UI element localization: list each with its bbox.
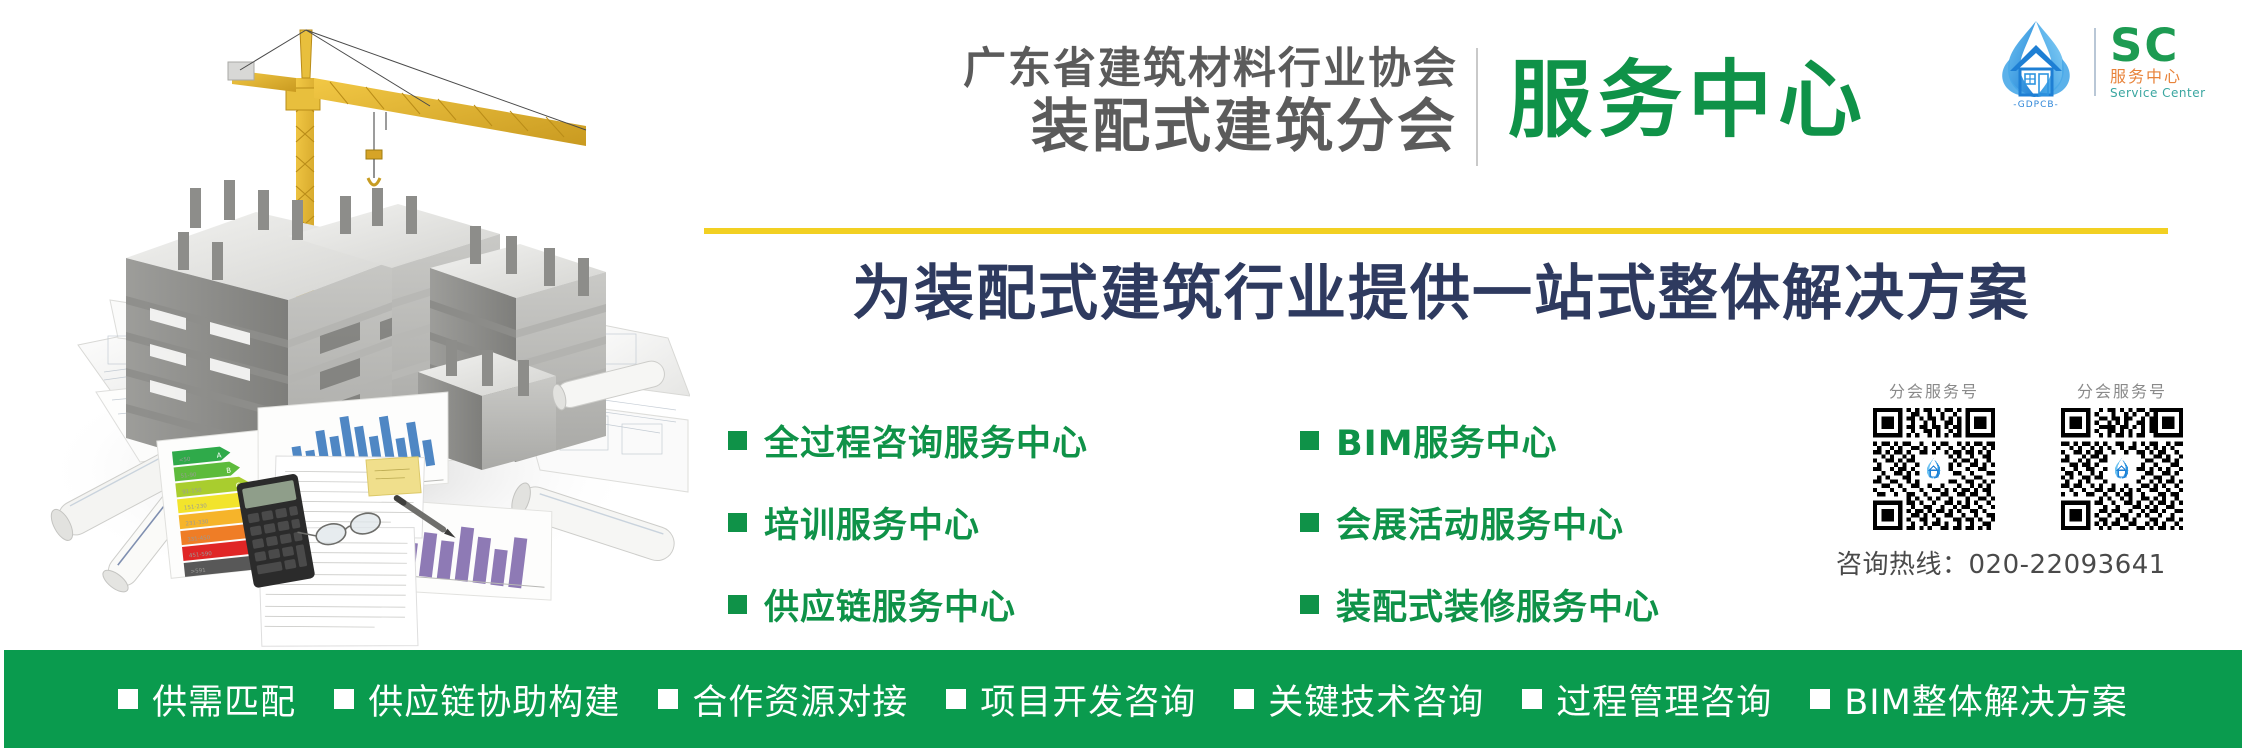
service-label: 培训服务中心 [764, 497, 980, 548]
hero-construction-image: ABC DEF GH <5051-9091-150 151-230231-330… [0, 0, 690, 648]
qr-code-icon[interactable] [2046, 408, 2198, 530]
qr-contact-block: 分会服务号 [1858, 378, 2238, 581]
service-label: 供应链服务中心 [764, 579, 1016, 630]
square-bullet-icon [658, 689, 678, 709]
logo-text-block: SC 服务中心 Service Center [2110, 25, 2206, 100]
association-title-block: 广东省建筑材料行业协会 装配式建筑分会 [838, 44, 1458, 158]
square-bullet-icon [334, 689, 354, 709]
qr-code-icon[interactable] [1858, 408, 2010, 530]
footer-item[interactable]: BIM整体解决方案 [1791, 674, 2147, 725]
footer-bar: 供需匹配 供应链协助构建 合作资源对接 项目开发咨询 关键技术咨询 过程管理咨询… [4, 650, 2242, 748]
footer-label: 项目开发咨询 [980, 674, 1196, 725]
gdpcb-house-flame-icon: -GDPCB- [1986, 15, 2086, 109]
yellow-divider-rule [704, 228, 2168, 234]
house-flame-glyph [1986, 15, 2086, 109]
banner-root: ABC DEF GH <5051-9091-150 151-230231-330… [0, 0, 2246, 752]
qr-cell[interactable]: 分会服务号 [2046, 378, 2198, 530]
page-tagline: 为装配式建筑行业提供一站式整体解决方案 [706, 255, 2176, 333]
square-bullet-icon [1810, 689, 1830, 709]
square-bullet-icon [728, 513, 747, 532]
service-list-right: BIM服务中心 会展活动服务中心 装配式装修服务中心 [1300, 408, 1660, 654]
qr-cell[interactable]: 分会服务号 [1858, 378, 2010, 530]
logo-divider [2094, 28, 2096, 96]
footer-label: 合作资源对接 [692, 674, 908, 725]
footer-item[interactable]: 供需匹配 [99, 674, 315, 725]
square-bullet-icon [728, 595, 747, 614]
square-bullet-icon [1300, 513, 1319, 532]
footer-item[interactable]: 关键技术咨询 [1215, 674, 1503, 725]
list-item[interactable]: 装配式装修服务中心 [1300, 572, 1660, 636]
service-center-heading: 服务中心 [1508, 50, 1868, 150]
construction-scene-illustration: ABC DEF GH <5051-9091-150 151-230231-330… [0, 0, 690, 648]
list-item[interactable]: BIM服务中心 [1300, 408, 1660, 472]
footer-item[interactable]: 供应链协助构建 [315, 674, 639, 725]
logo-sc-letters: SC [2110, 25, 2206, 67]
footer-label: 过程管理咨询 [1556, 674, 1772, 725]
service-label: 全过程咨询服务中心 [764, 415, 1088, 466]
service-label: 装配式装修服务中心 [1336, 579, 1660, 630]
qr-caption: 分会服务号 [2046, 378, 2198, 402]
footer-label: 供需匹配 [152, 674, 296, 725]
service-label: 会展活动服务中心 [1336, 497, 1624, 548]
logo-english-label: Service Center [2110, 86, 2206, 100]
square-bullet-icon [728, 431, 747, 450]
footer-item[interactable]: 项目开发咨询 [927, 674, 1215, 725]
service-label: BIM服务中心 [1336, 415, 1558, 466]
hotline-text: 咨询热线：020-22093641 [1836, 544, 2238, 581]
sticky-note [364, 453, 423, 500]
footer-label: 关键技术咨询 [1268, 674, 1484, 725]
footer-label: 供应链协助构建 [368, 674, 620, 725]
service-list-left: 全过程咨询服务中心 培训服务中心 供应链服务中心 [728, 408, 1088, 654]
footer-item[interactable]: 合作资源对接 [639, 674, 927, 725]
association-branch: 装配式建筑分会 [838, 94, 1458, 158]
brand-logo[interactable]: -GDPCB- SC 服务中心 Service Center [1986, 14, 2236, 110]
logo-chinese-label: 服务中心 [2110, 67, 2206, 86]
list-item[interactable]: 培训服务中心 [728, 490, 1088, 554]
association-name: 广东省建筑材料行业协会 [838, 44, 1458, 94]
qr-row: 分会服务号 [1858, 378, 2238, 530]
square-bullet-icon [946, 689, 966, 709]
footer-item[interactable]: 过程管理咨询 [1503, 674, 1791, 725]
gdpcb-wordmark: -GDPCB- [1986, 100, 2086, 110]
square-bullet-icon [1300, 431, 1319, 450]
footer-label: BIM整体解决方案 [1844, 674, 2128, 725]
square-bullet-icon [1522, 689, 1542, 709]
list-item[interactable]: 供应链服务中心 [728, 572, 1088, 636]
svg-text:<50: <50 [179, 457, 192, 464]
square-bullet-icon [1234, 689, 1254, 709]
square-bullet-icon [1300, 595, 1319, 614]
list-item[interactable]: 会展活动服务中心 [1300, 490, 1660, 554]
qr-caption: 分会服务号 [1858, 378, 2010, 402]
header-divider [1476, 48, 1478, 166]
square-bullet-icon [118, 689, 138, 709]
list-item[interactable]: 全过程咨询服务中心 [728, 408, 1088, 472]
